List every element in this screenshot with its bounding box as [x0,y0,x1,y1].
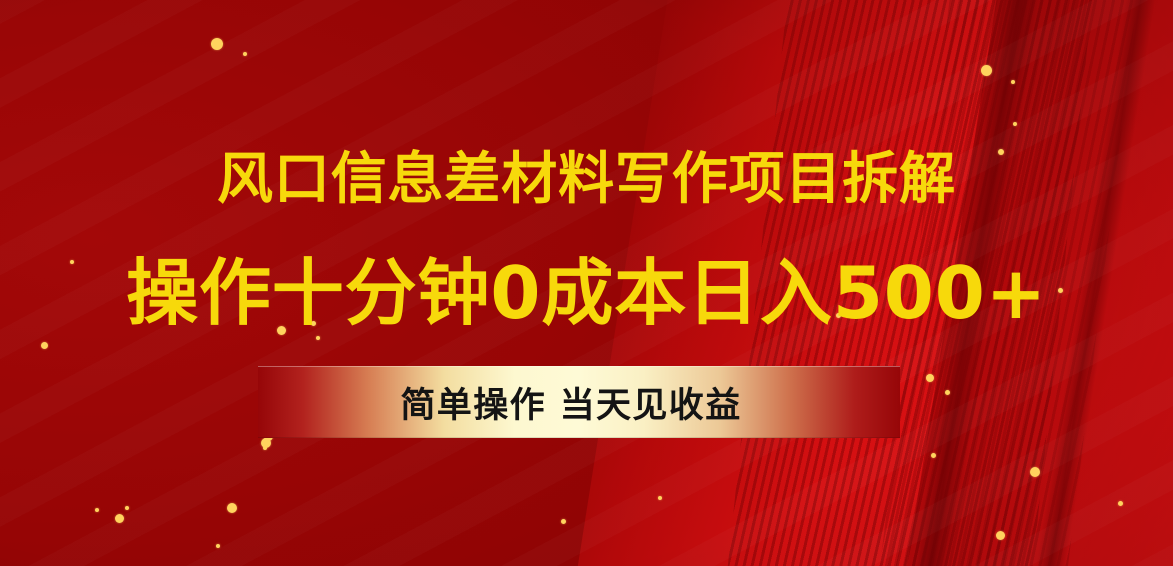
headline-line-2: 操作十分钟0成本日入500+ [0,252,1173,334]
confetti-dot [125,506,129,510]
confetti-dot [316,336,320,340]
confetti-dot [1011,80,1015,84]
confetti-dot [996,531,1005,540]
confetti-dot [261,438,271,448]
confetti-dot [926,374,934,382]
subtitle-text: 简单操作 当天见收益 [400,377,741,428]
subtitle-band: 简单操作 当天见收益 [258,366,900,438]
confetti-dot [95,508,99,512]
confetti-dot [211,38,223,50]
confetti-dot [115,514,124,523]
confetti-dot [1030,467,1040,477]
confetti-dot [1013,122,1017,126]
confetti-dot [658,496,662,500]
confetti-dot [243,52,247,56]
confetti-dot [931,453,936,458]
confetti-dot [561,519,566,524]
confetti-dot [945,390,950,395]
confetti-dot [216,544,220,548]
confetti-dot [41,342,48,349]
headline-line-1: 风口信息差材料写作项目拆解 [0,148,1173,212]
confetti-dot [227,503,237,513]
confetti-dot [1118,501,1123,506]
promo-poster: 风口信息差材料写作项目拆解 操作十分钟0成本日入500+ 简单操作 当天见收益 [0,0,1173,566]
confetti-dot [981,65,992,76]
